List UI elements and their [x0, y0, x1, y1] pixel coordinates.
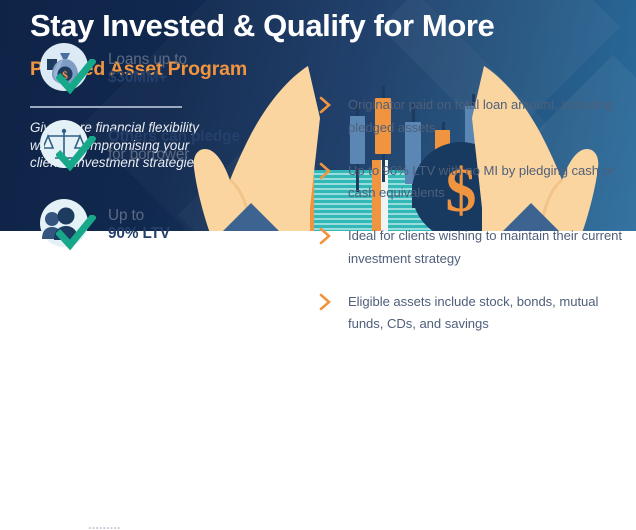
feature-line-2: $30MM+	[108, 69, 187, 88]
feature-icon-wrap: $	[38, 43, 96, 95]
feature-line-1: Others can pledge	[108, 128, 240, 147]
check-icon	[56, 136, 96, 172]
feature-item-ltv: Up to 90% LTV	[38, 199, 170, 251]
chevron-right-icon	[318, 95, 334, 115]
feature-line-2: 90% LTV	[108, 225, 170, 244]
list-item-text: Eligible assets include stock, bonds, mu…	[348, 291, 636, 336]
feature-line-1: Up to	[108, 207, 170, 226]
check-icon	[56, 59, 96, 95]
footer-text: .........	[88, 522, 218, 530]
chevron-right-icon	[318, 292, 334, 312]
list-item: Eligible assets include stock, bonds, mu…	[318, 291, 636, 336]
feature-icon-wrap	[38, 199, 96, 251]
feature-item-loans: $ Loans up to $30MM+	[38, 43, 187, 95]
page-title: Stay Invested & Qualify for More	[30, 8, 494, 44]
feature-text: Loans up to $30MM+	[108, 51, 187, 88]
feature-line-1: Loans up to	[108, 51, 187, 70]
feature-icon-wrap	[38, 120, 96, 172]
list-item: Up to 90% LTV with no MI by pledging cas…	[318, 160, 636, 205]
header-divider	[30, 106, 182, 108]
list-item: Ideal for clients wishing to maintain th…	[318, 225, 636, 270]
list-item-text: Originator paid on total loan amount, in…	[348, 94, 636, 139]
list-item-text: Up to 90% LTV with no MI by pledging cas…	[348, 160, 636, 205]
list-item-text: Ideal for clients wishing to maintain th…	[348, 225, 636, 270]
feature-text: Up to 90% LTV	[108, 207, 170, 244]
feature-item-pledge: Others can pledge for borrower	[38, 120, 240, 172]
check-icon	[56, 215, 96, 251]
feature-text: Others can pledge for borrower	[108, 128, 240, 165]
benefits-list: Originator paid on total loan amount, in…	[318, 94, 636, 356]
list-item: Originator paid on total loan amount, in…	[318, 94, 636, 139]
chevron-right-icon	[318, 161, 334, 181]
chevron-right-icon	[318, 226, 334, 246]
feature-line-2: for borrower	[108, 146, 240, 165]
footer-clipped-text: .........	[88, 522, 218, 530]
